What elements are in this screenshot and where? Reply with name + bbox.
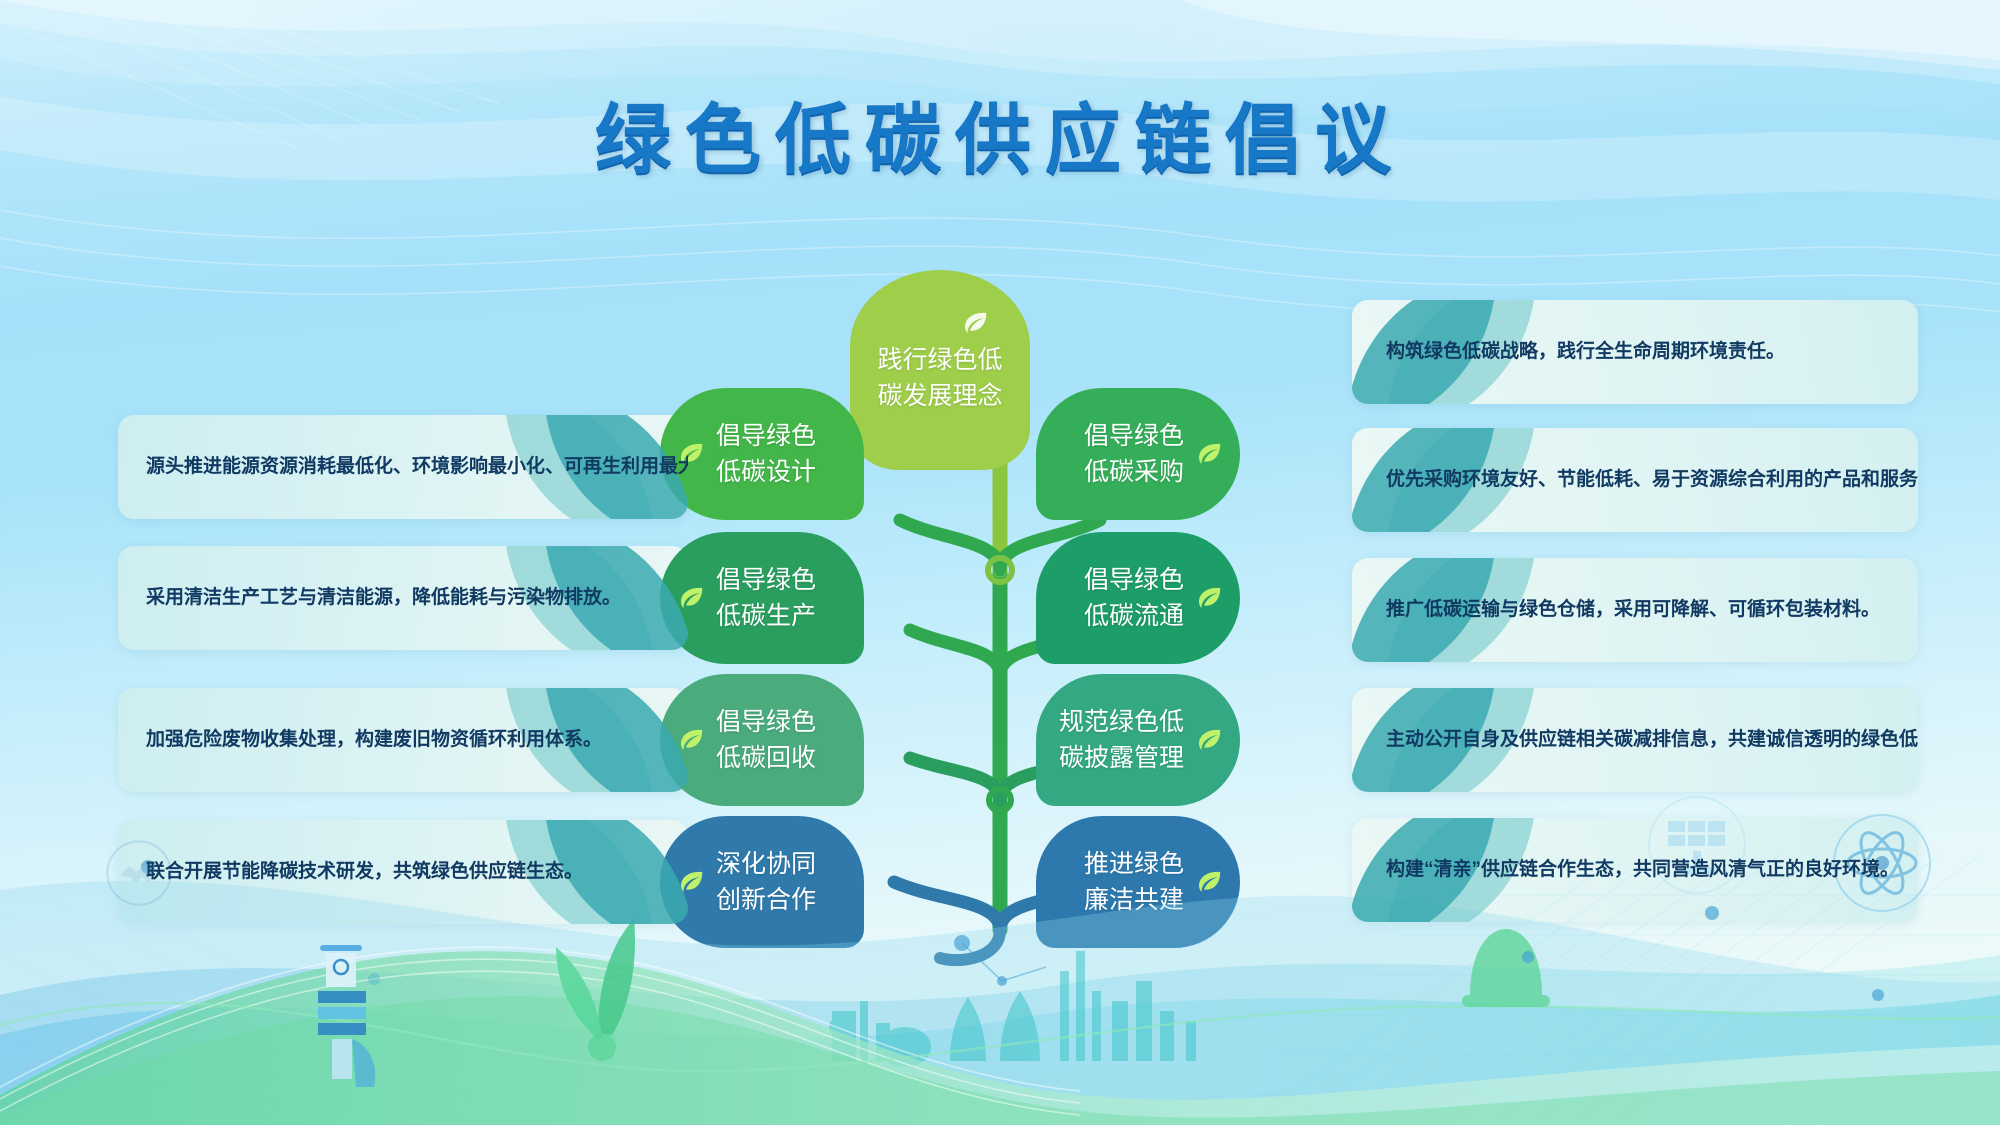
leaf-icon: [1194, 725, 1224, 755]
plant-leaf-production-line2: 低碳生产: [716, 598, 816, 634]
plant-leaf-procurement-line2: 低碳采购: [1084, 454, 1184, 490]
plant-crown-line1: 践行绿色低: [877, 342, 1002, 378]
plant-leaf-distribution-line2: 低碳流通: [1084, 598, 1184, 634]
right-panel-3[interactable]: 推广低碳运输与绿色仓储，采用可降解、可循环包装材料。: [1352, 558, 1918, 662]
plant-leaf-distribution[interactable]: 倡导绿色 低碳流通: [1036, 532, 1240, 664]
left-panel-1[interactable]: 源头推进能源资源消耗最低化、环境影响最小化、可再生利用最大化。: [118, 415, 688, 519]
plant-leaf-recycling-line1: 倡导绿色: [716, 704, 816, 740]
right-panel-4[interactable]: 主动公开自身及供应链相关碳减排信息，共建诚信透明的绿色低碳生态。: [1352, 688, 1918, 792]
leaf-icon: [1194, 583, 1224, 613]
plant-leaf-recycling-line2: 低碳回收: [716, 740, 816, 776]
leaf-icon: [1194, 439, 1224, 469]
plant-crown-leaf[interactable]: 践行绿色低 碳发展理念: [850, 270, 1030, 470]
left-panel-2-text: 采用清洁生产工艺与清洁能源，降低能耗与污染物排放。: [118, 585, 621, 611]
left-panel-1-text: 源头推进能源资源消耗最低化、环境影响最小化、可再生利用最大化。: [118, 454, 688, 480]
plant-leaf-production[interactable]: 倡导绿色 低碳生产: [660, 532, 864, 664]
right-panel-1[interactable]: 构筑绿色低碳战略，践行全生命周期环境责任。: [1352, 300, 1918, 404]
left-panel-2[interactable]: 采用清洁生产工艺与清洁能源，降低能耗与污染物排放。: [118, 546, 688, 650]
left-panel-4-text: 联合开展节能降碳技术研发，共筑绿色供应链生态。: [118, 859, 583, 885]
plant-leaf-design[interactable]: 倡导绿色 低碳设计: [660, 388, 864, 520]
leaf-icon: [960, 308, 990, 338]
left-panel-3[interactable]: 加强危险废物收集处理，构建废旧物资循环利用体系。: [118, 688, 688, 792]
right-panel-5-text: 构建“清亲”供应链合作生态，共同营造风清气正的良好环境。: [1352, 857, 1899, 883]
right-panel-2-text: 优先采购环境友好、节能低耗、易于资源综合利用的产品和服务。: [1352, 467, 1918, 493]
plant-crown-line2: 碳发展理念: [877, 378, 1002, 414]
plant-leaf-disclosure[interactable]: 规范绿色低 碳披露管理: [1036, 674, 1240, 806]
right-panel-4-text: 主动公开自身及供应链相关碳减排信息，共建诚信透明的绿色低碳生态。: [1352, 727, 1918, 753]
right-panel-1-text: 构筑绿色低碳战略，践行全生命周期环境责任。: [1352, 339, 1785, 365]
plant-leaf-design-line2: 低碳设计: [716, 454, 816, 490]
plant-leaf-design-line1: 倡导绿色: [716, 418, 816, 454]
plant-leaf-distribution-line1: 倡导绿色: [1084, 562, 1184, 598]
background-waves-bottom: [0, 795, 2000, 1125]
right-panel-2[interactable]: 优先采购环境友好、节能低耗、易于资源综合利用的产品和服务。: [1352, 428, 1918, 532]
plant-leaf-procurement[interactable]: 倡导绿色 低碳采购: [1036, 388, 1240, 520]
plant-leaf-disclosure-line1: 规范绿色低: [1059, 704, 1184, 740]
left-panel-3-text: 加强危险废物收集处理，构建废旧物资循环利用体系。: [118, 727, 602, 753]
plant-leaf-procurement-line1: 倡导绿色: [1084, 418, 1184, 454]
plant-leaf-production-line1: 倡导绿色: [716, 562, 816, 598]
right-panel-3-text: 推广低碳运输与绿色仓储，采用可降解、可循环包装材料。: [1352, 597, 1880, 623]
plant-leaf-disclosure-line2: 碳披露管理: [1059, 740, 1184, 776]
poster-root: 绿色低碳供应链倡议 源头推进能源资源消耗最低化、环境影响最小化、可再生利用最大化…: [0, 0, 2000, 1125]
plant-leaf-recycling[interactable]: 倡导绿色 低碳回收: [660, 674, 864, 806]
page-title: 绿色低碳供应链倡议: [0, 78, 2000, 188]
